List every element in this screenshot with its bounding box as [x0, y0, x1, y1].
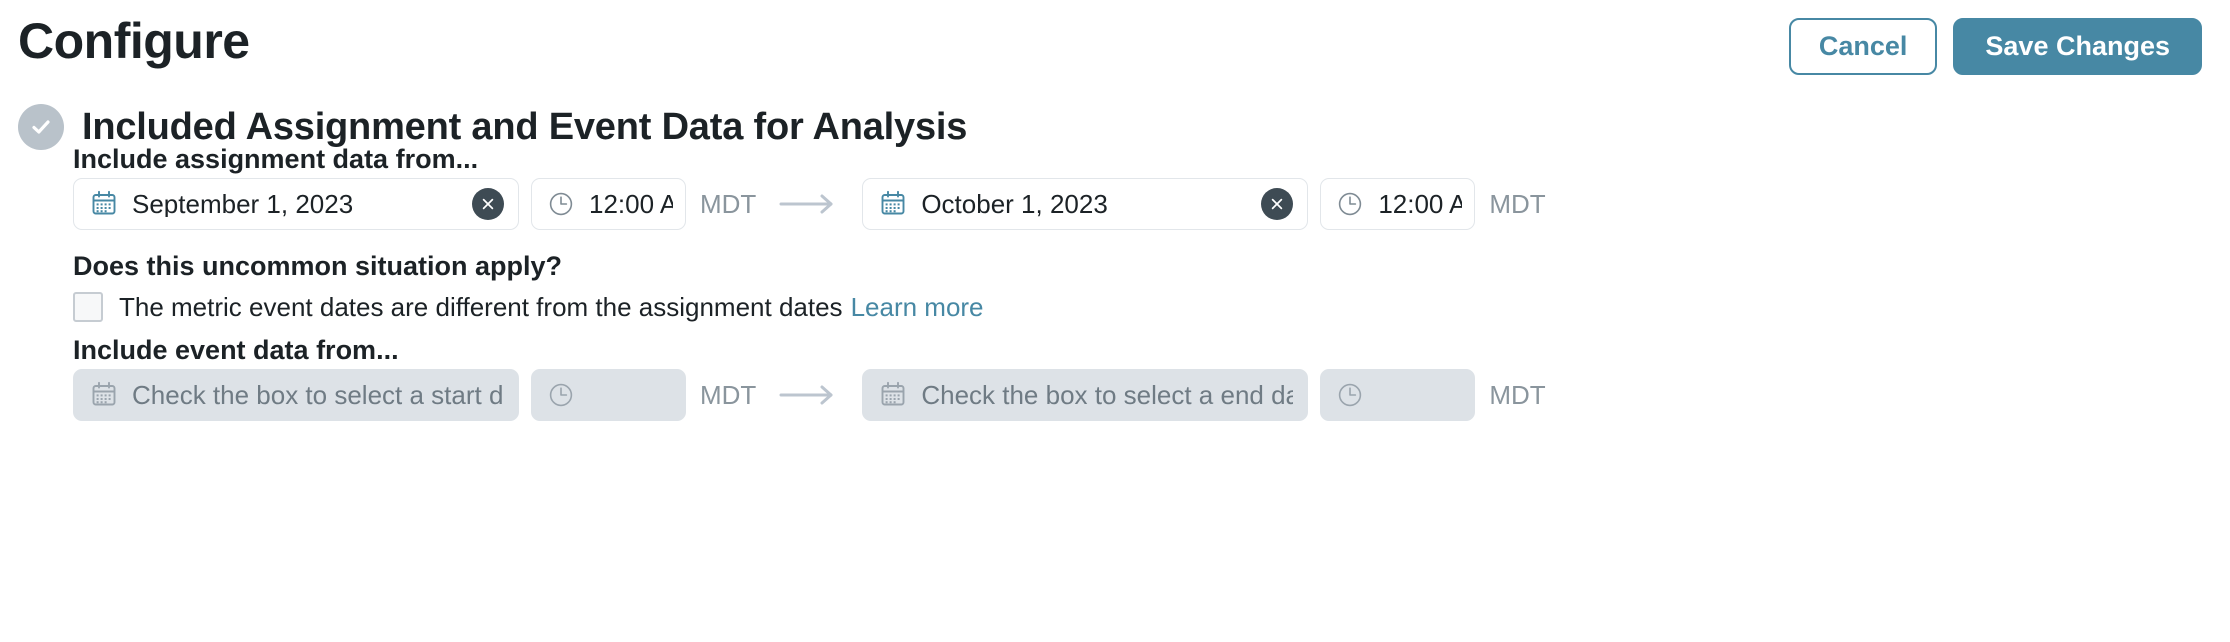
cancel-button[interactable]: Cancel	[1789, 18, 1938, 75]
clear-circle-icon[interactable]	[1261, 188, 1293, 220]
check-circle-icon	[18, 104, 64, 150]
assignment-start-date-input[interactable]: September 1, 2023	[73, 178, 519, 230]
assignment-end-date-value: October 1, 2023	[921, 191, 1261, 217]
event-start-time-input[interactable]	[531, 369, 686, 421]
clock-icon	[1335, 380, 1365, 410]
page-header: Configure Cancel Save Changes	[0, 0, 2230, 100]
metric-event-dates-checkbox[interactable]	[73, 292, 103, 322]
event-end-group: Check the box to select a end date MDT	[862, 369, 1545, 421]
assignment-end-group: October 1, 2023 12:00 AM MDT	[862, 178, 1545, 230]
event-end-timezone: MDT	[1489, 382, 1545, 408]
assignment-start-timezone: MDT	[700, 191, 756, 217]
save-changes-button[interactable]: Save Changes	[1953, 18, 2202, 75]
event-start-timezone: MDT	[700, 382, 756, 408]
event-end-time-input[interactable]	[1320, 369, 1475, 421]
calendar-icon	[89, 380, 119, 410]
assignment-start-group: September 1, 2023 12:00 AM MDT	[73, 178, 756, 230]
clock-icon	[1335, 189, 1365, 219]
section-title: Included Assignment and Event Data for A…	[82, 108, 967, 146]
metric-event-dates-checkbox-row[interactable]: The metric event dates are different fro…	[73, 290, 984, 324]
clock-icon	[546, 189, 576, 219]
assignment-start-time-input[interactable]: 12:00 AM	[531, 178, 686, 230]
assignment-end-timezone: MDT	[1489, 191, 1545, 217]
event-start-date-input[interactable]: Check the box to select a start date	[73, 369, 519, 421]
assignment-date-range-row: September 1, 2023 12:00 AM MDT	[73, 178, 1546, 230]
assignment-end-date-input[interactable]: October 1, 2023	[862, 178, 1308, 230]
calendar-icon	[878, 189, 908, 219]
assignment-start-time-value: 12:00 AM	[589, 191, 673, 217]
assignment-data-label: Include assignment data from...	[73, 146, 478, 173]
metric-event-dates-label: The metric event dates are different fro…	[119, 294, 843, 320]
event-date-range-row: Check the box to select a start date MDT	[73, 369, 1546, 421]
assignment-end-time-input[interactable]: 12:00 AM	[1320, 178, 1475, 230]
assignment-start-date-value: September 1, 2023	[132, 191, 472, 217]
event-end-date-input[interactable]: Check the box to select a end date	[862, 369, 1308, 421]
learn-more-link[interactable]: Learn more	[851, 294, 984, 320]
assignment-end-time-value: 12:00 AM	[1378, 191, 1462, 217]
event-start-date-placeholder: Check the box to select a start date	[132, 382, 504, 408]
uncommon-situation-label: Does this uncommon situation apply?	[73, 253, 562, 280]
arrow-right-icon	[756, 384, 862, 406]
clear-circle-icon[interactable]	[472, 188, 504, 220]
clock-icon	[546, 380, 576, 410]
event-end-date-placeholder: Check the box to select a end date	[921, 382, 1293, 408]
event-start-group: Check the box to select a start date MDT	[73, 369, 756, 421]
page-title: Configure	[18, 16, 250, 66]
header-actions: Cancel Save Changes	[1789, 18, 2202, 75]
calendar-icon	[878, 380, 908, 410]
event-data-label: Include event data from...	[73, 337, 399, 364]
arrow-right-icon	[756, 193, 862, 215]
calendar-icon	[89, 189, 119, 219]
configure-panel: Configure Cancel Save Changes Included A…	[0, 0, 2230, 642]
